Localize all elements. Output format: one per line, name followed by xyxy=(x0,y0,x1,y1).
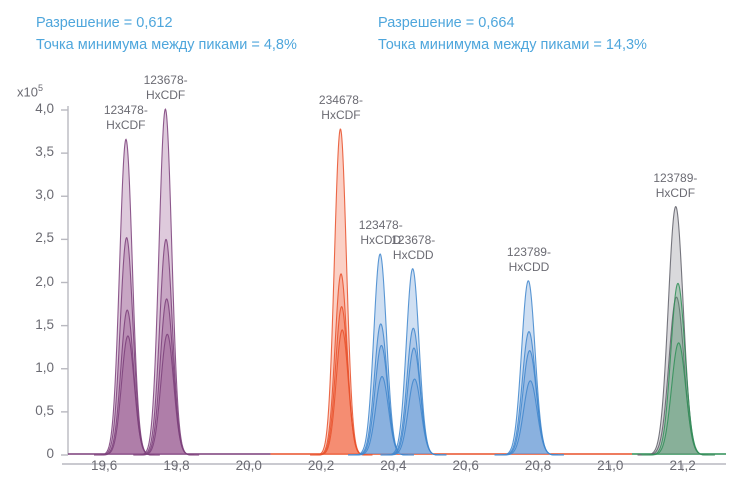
peak-group xyxy=(495,281,565,455)
y-axis-tick-label: 3,0 xyxy=(8,187,54,202)
peak-label: 234678-HxCDF xyxy=(291,93,391,123)
x-axis-tick-label: 19,8 xyxy=(146,458,206,473)
peak-group xyxy=(310,129,372,455)
peak-label: 123678-HxCDD xyxy=(363,233,463,263)
x-axis-tick-label: 20,4 xyxy=(363,458,423,473)
y-axis-tick-label: 2,5 xyxy=(8,230,54,245)
peak-area xyxy=(310,330,372,455)
y-axis-tick-label: 4,0 xyxy=(8,101,54,116)
x-axis-tick-label: 20,8 xyxy=(508,458,568,473)
x-axis-tick-label: 20,2 xyxy=(291,458,351,473)
y-axis-tick-label: 1,0 xyxy=(8,360,54,375)
x-axis-tick-label: 21,0 xyxy=(580,458,640,473)
x-axis-tick-label: 20,0 xyxy=(219,458,279,473)
peak-area xyxy=(133,334,199,455)
y-axis-tick-label: 2,0 xyxy=(8,274,54,289)
peak-group xyxy=(642,283,715,455)
peak-label: 123789-HxCDD xyxy=(479,245,579,275)
y-axis-tick-label: 0 xyxy=(8,446,54,461)
peak-group xyxy=(133,109,199,455)
peak-label: 123478-HxCDF xyxy=(76,103,176,133)
peak-group xyxy=(94,139,160,455)
y-axis-tick-label: 1,5 xyxy=(8,317,54,332)
peak-area xyxy=(642,343,715,455)
x-axis-tick-label: 20,6 xyxy=(436,458,496,473)
chromatogram-figure: Разрешение = 0,612 Точка минимума между … xyxy=(0,0,732,486)
peak-label: 123789-HxCDF xyxy=(625,171,725,201)
peak-label: 123678-HxCDF xyxy=(116,73,216,103)
y-axis-tick-label: 3,5 xyxy=(8,144,54,159)
peak-area xyxy=(495,381,565,455)
x-axis-tick-label: 19,6 xyxy=(74,458,134,473)
y-axis-tick-label: 0,5 xyxy=(8,403,54,418)
x-axis-tick-label: 21,2 xyxy=(653,458,713,473)
